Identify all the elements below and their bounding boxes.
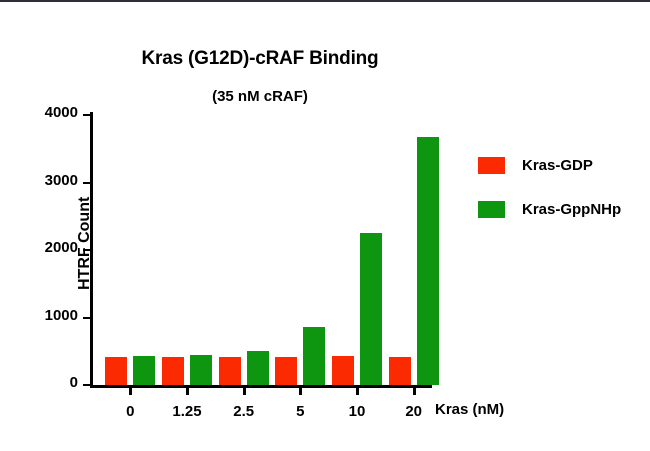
- bar: [417, 137, 439, 385]
- top-border-rule: [0, 0, 650, 2]
- y-tick: 3000: [83, 182, 90, 184]
- y-tick-label: 2000: [45, 239, 78, 256]
- plot-area: 01000200030004000 01.252.551020 HTRF Cou…: [90, 115, 430, 385]
- x-tick: [243, 387, 246, 395]
- x-tick: [356, 387, 359, 395]
- legend-label: Kras-GppNHp: [522, 201, 621, 218]
- x-tick: [129, 387, 132, 395]
- y-tick-label: 3000: [45, 172, 78, 189]
- x-tick-label: 5: [296, 403, 304, 420]
- chart-title: Kras (G12D)-cRAF Binding: [60, 48, 460, 70]
- x-tick: [413, 387, 416, 395]
- x-tick: [186, 387, 189, 395]
- bar: [162, 357, 184, 385]
- x-tick-label: 2.5: [233, 403, 254, 420]
- bar: [219, 357, 241, 385]
- bar: [133, 356, 155, 385]
- y-tick-label: 4000: [45, 104, 78, 121]
- legend-label: Kras-GDP: [522, 157, 593, 174]
- x-axis-label: Kras (nM): [435, 401, 504, 418]
- bar: [275, 357, 297, 385]
- bar: [105, 357, 127, 385]
- bar: [360, 233, 382, 385]
- y-tick: 1000: [83, 317, 90, 319]
- bar: [247, 351, 269, 385]
- x-axis-line: [90, 385, 432, 388]
- y-tick: 0: [83, 384, 90, 386]
- legend-swatch: [478, 201, 505, 218]
- legend-item: Kras-GDP: [478, 143, 621, 187]
- y-tick-label: 0: [70, 374, 78, 391]
- x-tick: [299, 387, 302, 395]
- bar: [389, 357, 411, 385]
- legend-item: Kras-GppNHp: [478, 187, 621, 231]
- bar: [332, 356, 354, 385]
- bar: [303, 327, 325, 385]
- y-axis-label: HTRF Count: [76, 197, 94, 290]
- chart-legend: Kras-GDPKras-GppNHp: [478, 143, 621, 231]
- x-tick-label: 20: [405, 403, 422, 420]
- x-tick-label: 0: [126, 403, 134, 420]
- legend-swatch: [478, 157, 505, 174]
- x-tick-label: 10: [349, 403, 366, 420]
- x-tick-label: 1.25: [172, 403, 201, 420]
- y-tick-label: 1000: [45, 307, 78, 324]
- chart-subtitle: (35 nM cRAF): [60, 88, 460, 105]
- bar: [190, 355, 212, 385]
- chart-canvas: Kras (G12D)-cRAF Binding (35 nM cRAF) 01…: [0, 0, 650, 451]
- y-tick: 4000: [83, 114, 90, 116]
